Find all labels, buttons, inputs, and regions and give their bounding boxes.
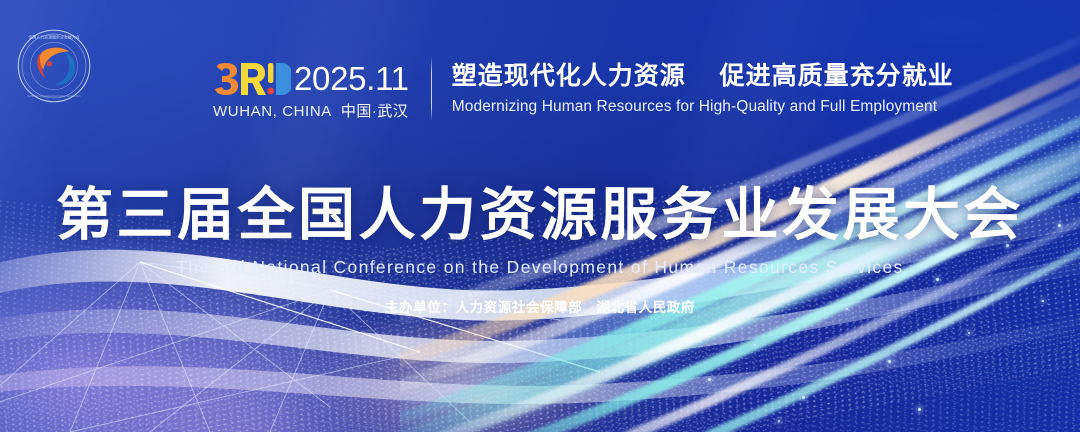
conference-emblem-icon: 全国人力资源服务业发展大会 NATIONAL CONFERENCE HUMAN …: [16, 28, 92, 104]
conference-banner: 全国人力资源服务业发展大会 NATIONAL CONFERENCE HUMAN …: [0, 0, 1080, 432]
city-cn-label: 中国·武汉: [341, 100, 409, 121]
3rd-ordinal-logo: [213, 62, 291, 96]
page-subtitle: The 3rd National Conference on the Devel…: [0, 256, 1080, 278]
host-org-2: 湖北省人民政府: [596, 300, 695, 315]
header-cluster: 2025.11 WUHAN, CHINA 中国·武汉 塑造现代化人力资源 促进高…: [213, 56, 954, 121]
slogan-cn-part2: 促进高质量充分就业: [720, 62, 954, 90]
svg-text:NATIONAL CONFERENCE HUMAN RESO: NATIONAL CONFERENCE HUMAN RESOURCES: [27, 95, 81, 98]
slogan-cn-part1: 塑造现代化人力资源: [452, 62, 686, 90]
svg-text:全国人力资源服务业发展大会: 全国人力资源服务业发展大会: [28, 35, 79, 40]
year-label: 2025.11: [294, 62, 409, 96]
host-organizations: 主办单位：人力资源社会保障部湖北省人民政府: [0, 299, 1080, 317]
slogan-en-label: Modernizing Human Resources for High-Qua…: [452, 98, 954, 116]
slogan-block: 塑造现代化人力资源 促进高质量充分就业 Modernizing Human Re…: [452, 61, 954, 116]
host-label: 主办单位：: [385, 300, 456, 315]
date-location-block: 2025.11 WUHAN, CHINA 中国·武汉: [213, 56, 409, 121]
city-en-label: WUHAN, CHINA: [213, 103, 332, 120]
header-divider: [431, 57, 432, 121]
host-org-1: 人力资源社会保障部: [455, 300, 582, 315]
page-title: 第三届全国人力资源服务业发展大会: [0, 183, 1080, 247]
